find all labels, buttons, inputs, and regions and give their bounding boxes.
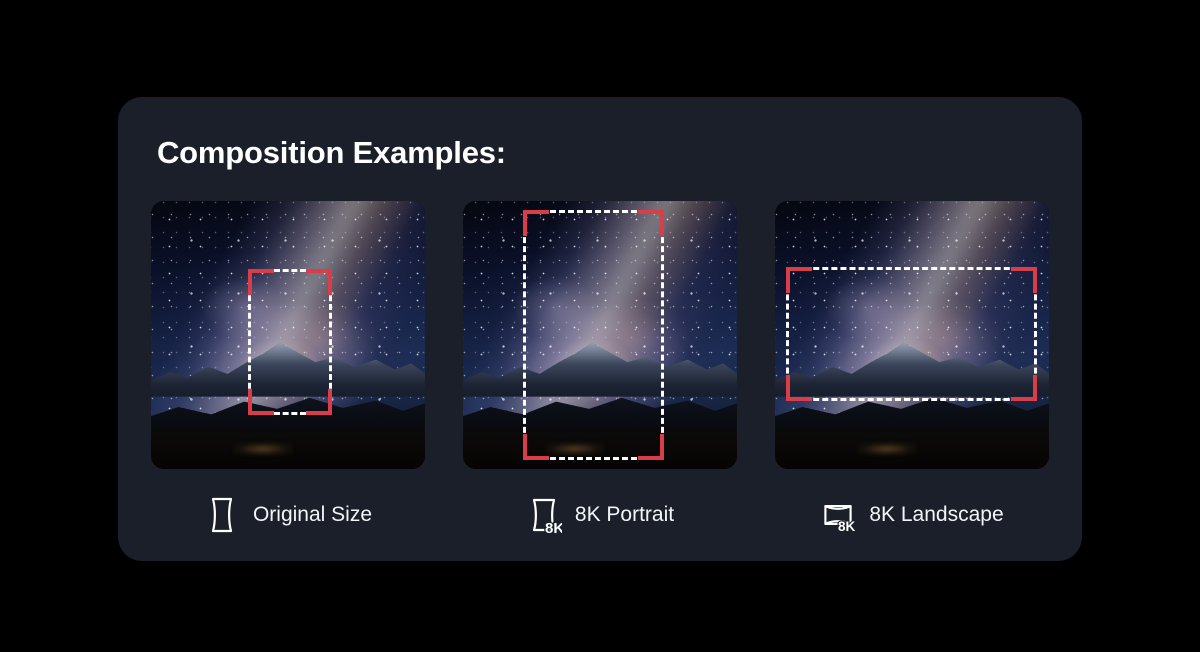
caption-label-portrait-8k: 8K Portrait (575, 503, 674, 527)
crop-corner-top-left (786, 267, 812, 293)
crop-corner-top-left (248, 269, 274, 295)
original-size-frame-icon (204, 495, 240, 535)
crop-corner-bottom-left (248, 389, 274, 415)
composition-examples-card: Composition Examples: (118, 97, 1082, 561)
crop-corner-bottom-right (1011, 375, 1037, 401)
example-original[interactable]: Original Size (150, 201, 426, 537)
example-portrait-8k[interactable]: 8K 8K Portrait (462, 201, 738, 537)
caption-label-original: Original Size (253, 503, 372, 527)
icon-badge-text: 8K (545, 520, 562, 535)
examples-row: Original Size (150, 201, 1050, 537)
screen-root: Composition Examples: (0, 0, 1200, 652)
crop-corner-top-right (306, 269, 332, 295)
crop-corner-bottom-right (306, 389, 332, 415)
crop-overlay-portrait-8k[interactable] (523, 210, 664, 459)
foreground-glow (857, 442, 917, 455)
crop-corner-top-right (1011, 267, 1037, 293)
thumbnail-landscape-8k[interactable] (775, 201, 1049, 469)
foreground-glow (233, 442, 293, 455)
thumbnail-original[interactable] (151, 201, 425, 469)
crop-overlay-original[interactable] (248, 269, 332, 415)
crop-corner-bottom-right (638, 434, 664, 460)
crop-corner-bottom-left (523, 434, 549, 460)
crop-overlay-landscape-8k[interactable] (786, 267, 1037, 401)
example-landscape-8k[interactable]: 8K 8K Landscape (774, 201, 1050, 537)
caption-landscape-8k: 8K 8K Landscape (820, 493, 1003, 537)
portrait-frame-8k-icon: 8K (526, 495, 562, 535)
caption-portrait-8k: 8K 8K Portrait (526, 493, 674, 537)
landscape-frame-8k-icon: 8K (820, 495, 856, 535)
thumbnail-portrait-8k[interactable] (463, 201, 737, 469)
caption-label-landscape-8k: 8K Landscape (869, 503, 1003, 527)
caption-original: Original Size (204, 493, 372, 537)
page-title: Composition Examples: (157, 135, 506, 171)
crop-corner-top-right (638, 210, 664, 236)
crop-corner-bottom-left (786, 375, 812, 401)
icon-badge-text: 8K (838, 519, 856, 534)
crop-corner-top-left (523, 210, 549, 236)
